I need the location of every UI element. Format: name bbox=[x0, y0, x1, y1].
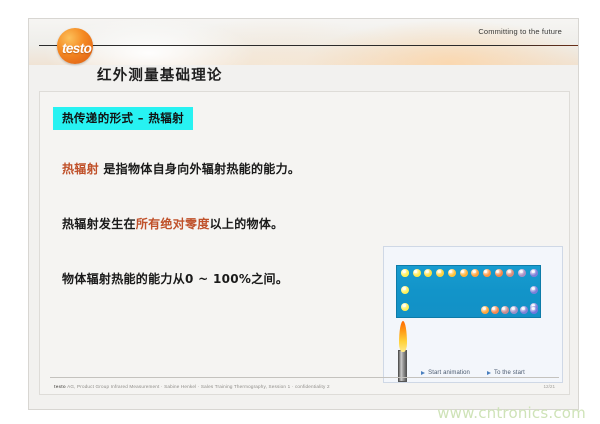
heat-dot-top bbox=[495, 269, 503, 277]
slide-header: Committing to the future bbox=[29, 19, 578, 65]
heat-dot-left bbox=[401, 269, 409, 277]
bullet-2-lead: 热辐射发生在 bbox=[62, 217, 136, 231]
play-triangle-icon bbox=[421, 371, 425, 375]
heat-dot-bottom bbox=[491, 306, 499, 314]
brand-wordmark: testo bbox=[62, 41, 91, 56]
footer-details: AG, Product Group Infrared Measurement ·… bbox=[67, 384, 330, 389]
play-triangle-icon bbox=[487, 371, 491, 375]
animation-controls: Start animation To the start bbox=[384, 370, 562, 376]
flame-icon bbox=[399, 321, 407, 352]
heat-dot-bottom bbox=[481, 306, 489, 314]
heat-dot-right bbox=[530, 286, 538, 294]
bullet-1-text: 是指物体自身向外辐射热能的能力。 bbox=[99, 162, 300, 176]
to-the-start-label: To the start bbox=[494, 370, 525, 376]
heat-dot-top bbox=[460, 269, 468, 277]
footer-credit: testo AG, Product Group Infrared Measure… bbox=[54, 384, 330, 389]
slide-body: 热传递的形式 – 热辐射 热辐射 是指物体自身向外辐射热能的能力。 热辐射发生在… bbox=[39, 91, 570, 395]
heat-dot-top bbox=[413, 269, 421, 277]
animation-panel[interactable]: Start animation To the start bbox=[383, 246, 563, 383]
brand-tagline: Committing to the future bbox=[478, 27, 562, 36]
heat-dot-top bbox=[436, 269, 444, 277]
heat-dot-top bbox=[448, 269, 456, 277]
heat-dot-bottom bbox=[520, 306, 528, 314]
footer-divider bbox=[50, 377, 559, 378]
bullet-line-3: 物体辐射热能的能力从0 ~ 100%之间。 bbox=[62, 270, 288, 287]
heat-dot-top bbox=[483, 269, 491, 277]
bullet-2-highlight: 所有绝对零度 bbox=[136, 217, 210, 231]
heat-dot-left bbox=[401, 286, 409, 294]
heat-dot-top bbox=[424, 269, 432, 277]
heated-bar-graphic bbox=[396, 265, 541, 318]
heat-dot-bottom bbox=[510, 306, 518, 314]
bullet-1-highlight: 热辐射 bbox=[62, 162, 99, 176]
slide-canvas: Committing to the future testo 红外测量基础理论 … bbox=[28, 18, 579, 410]
heat-dot-bottom bbox=[501, 306, 509, 314]
heat-dot-top bbox=[506, 269, 514, 277]
heat-dot-right bbox=[530, 269, 538, 277]
start-animation-button[interactable]: Start animation bbox=[421, 370, 470, 376]
site-watermark: www.cntronics.com bbox=[437, 404, 586, 422]
footer-page-number: 12/21 bbox=[544, 384, 556, 389]
page-title: 红外测量基础理论 bbox=[97, 64, 223, 85]
heat-dot-top bbox=[518, 269, 526, 277]
start-animation-label: Start animation bbox=[428, 370, 470, 376]
footer-company: testo bbox=[54, 384, 66, 389]
section-subtitle: 热传递的形式 – 热辐射 bbox=[53, 107, 193, 130]
bullet-line-2: 热辐射发生在所有绝对零度以上的物体。 bbox=[62, 215, 283, 232]
heat-dot-bottom bbox=[530, 306, 538, 314]
heat-dot-top bbox=[471, 269, 479, 277]
heat-dot-left bbox=[401, 303, 409, 311]
bullet-2-text: 以上的物体。 bbox=[210, 217, 284, 231]
to-the-start-button[interactable]: To the start bbox=[487, 370, 525, 376]
header-divider bbox=[39, 45, 578, 46]
bullet-line-1: 热辐射 是指物体自身向外辐射热能的能力。 bbox=[62, 160, 300, 177]
